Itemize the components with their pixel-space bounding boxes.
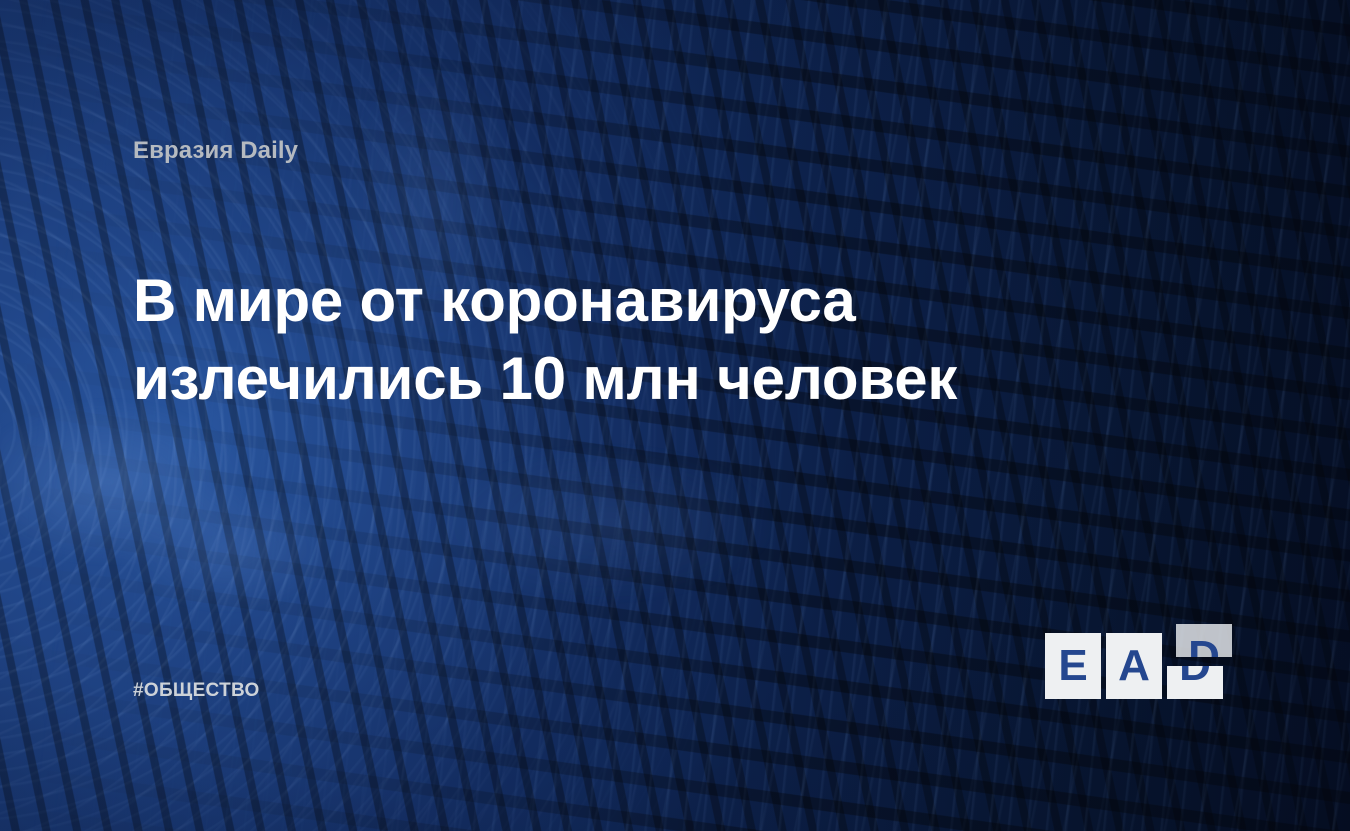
page-title: В мире от коронавируса излечились 10 млн… [133, 262, 1203, 418]
card-content: Евразия Daily В мире от коронавируса изл… [0, 0, 1350, 831]
logo-letter-e: E [1045, 633, 1101, 699]
logo-letter-d-top-glyph: D [1176, 624, 1232, 657]
news-share-card: Евразия Daily В мире от коронавируса изл… [0, 0, 1350, 831]
logo-letter-d-top-half: D [1176, 624, 1232, 657]
brand-name: Евразия Daily [133, 137, 298, 165]
logo-letter-d: D D [1167, 633, 1223, 699]
logo-letter-a: A [1106, 633, 1162, 699]
logo-letter-d-bottom-half: D [1167, 666, 1223, 699]
logo-letter-d-bottom-glyph: D [1167, 666, 1223, 699]
category-tag: #ОБЩЕСТВО [133, 680, 260, 702]
ead-logo: E A D D [1045, 620, 1223, 702]
